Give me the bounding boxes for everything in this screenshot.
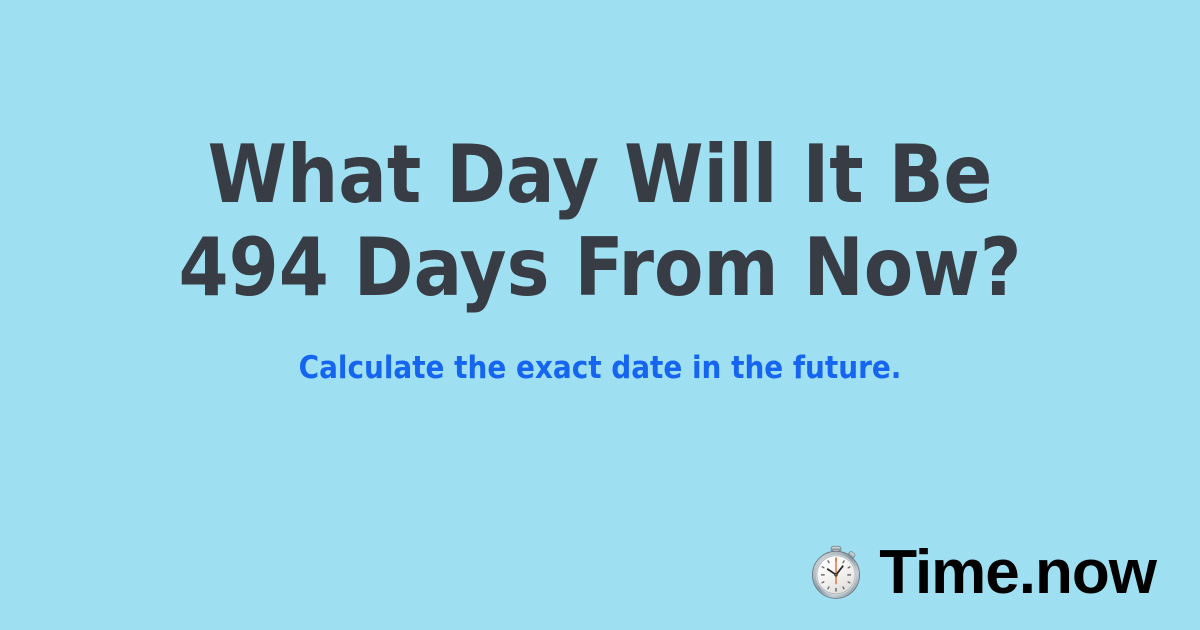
page-title-line-2: 494 Days From Now? (0, 221, 1200, 314)
brand-name: Time.now (879, 542, 1156, 604)
stopwatch-icon (807, 544, 865, 602)
page-subtitle: Calculate the exact date in the future. (0, 350, 1200, 386)
page-title-line-1: What Day Will It Be (0, 128, 1200, 221)
page-title: What Day Will It Be 494 Days From Now? (0, 128, 1200, 314)
og-card: What Day Will It Be 494 Days From Now? C… (0, 0, 1200, 630)
hero-section: What Day Will It Be 494 Days From Now? C… (0, 128, 1200, 386)
brand-lockup: Time.now (807, 542, 1156, 604)
